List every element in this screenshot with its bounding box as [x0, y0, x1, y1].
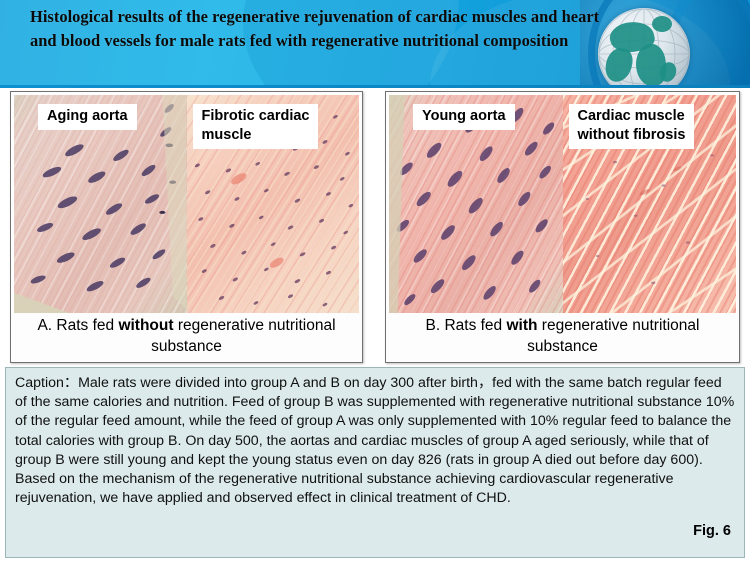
- panel-a-caption: A. Rats fed without regenerative nutriti…: [14, 313, 359, 359]
- fibrotic-cardiac-muscle-micrograph: Fibrotic cardiac muscle: [187, 95, 360, 313]
- figure-number-label: Fig. 6: [693, 523, 731, 539]
- slide: Histological results of the regenerative…: [0, 0, 750, 563]
- panel-b-caption: B. Rats fed with regenerative nutritiona…: [389, 313, 736, 359]
- caption-text: Caption：Male rats were divided into grou…: [15, 374, 735, 508]
- panel-b: Young aorta: [385, 91, 740, 363]
- panel-a-image-row: Aging aorta: [14, 95, 359, 313]
- young-aorta-label: Young aorta: [413, 104, 515, 130]
- panel-a-prefix: A. Rats fed: [37, 317, 118, 334]
- globe-graphic: [580, 0, 750, 88]
- panel-b-suffix: regenerative nutritional substance: [527, 317, 699, 355]
- panel-a-suffix: regenerative nutritional substance: [151, 317, 335, 355]
- globe-icon: [598, 8, 690, 88]
- panel-b-image-row: Young aorta: [389, 95, 736, 313]
- panel-a-emphasis: without: [118, 317, 173, 334]
- healthy-cardiac-muscle-label: Cardiac muscle without fibrosis: [569, 104, 695, 149]
- header-bottom-rule: [0, 85, 750, 88]
- globe-landmass: [652, 16, 672, 32]
- young-aorta-micrograph: Young aorta: [389, 95, 563, 313]
- panel-b-emphasis: with: [506, 317, 537, 334]
- panel-b-caption-text: B. Rats fed with regenerative nutritiona…: [395, 315, 730, 357]
- aging-aorta-label: Aging aorta: [38, 104, 137, 130]
- panel-a: Aging aorta: [10, 91, 363, 363]
- fibrotic-cardiac-muscle-label: Fibrotic cardiac muscle: [193, 104, 319, 149]
- slide-title: Histological results of the regenerative…: [30, 5, 600, 53]
- aging-aorta-micrograph: Aging aorta: [14, 95, 187, 313]
- caption-box: Caption：Male rats were divided into grou…: [5, 367, 745, 558]
- panel-a-caption-text: A. Rats fed without regenerative nutriti…: [20, 315, 353, 357]
- slide-header: Histological results of the regenerative…: [0, 0, 750, 88]
- healthy-cardiac-muscle-micrograph: Cardiac muscle without fibrosis: [563, 95, 737, 313]
- panel-b-prefix: B. Rats fed: [426, 317, 507, 334]
